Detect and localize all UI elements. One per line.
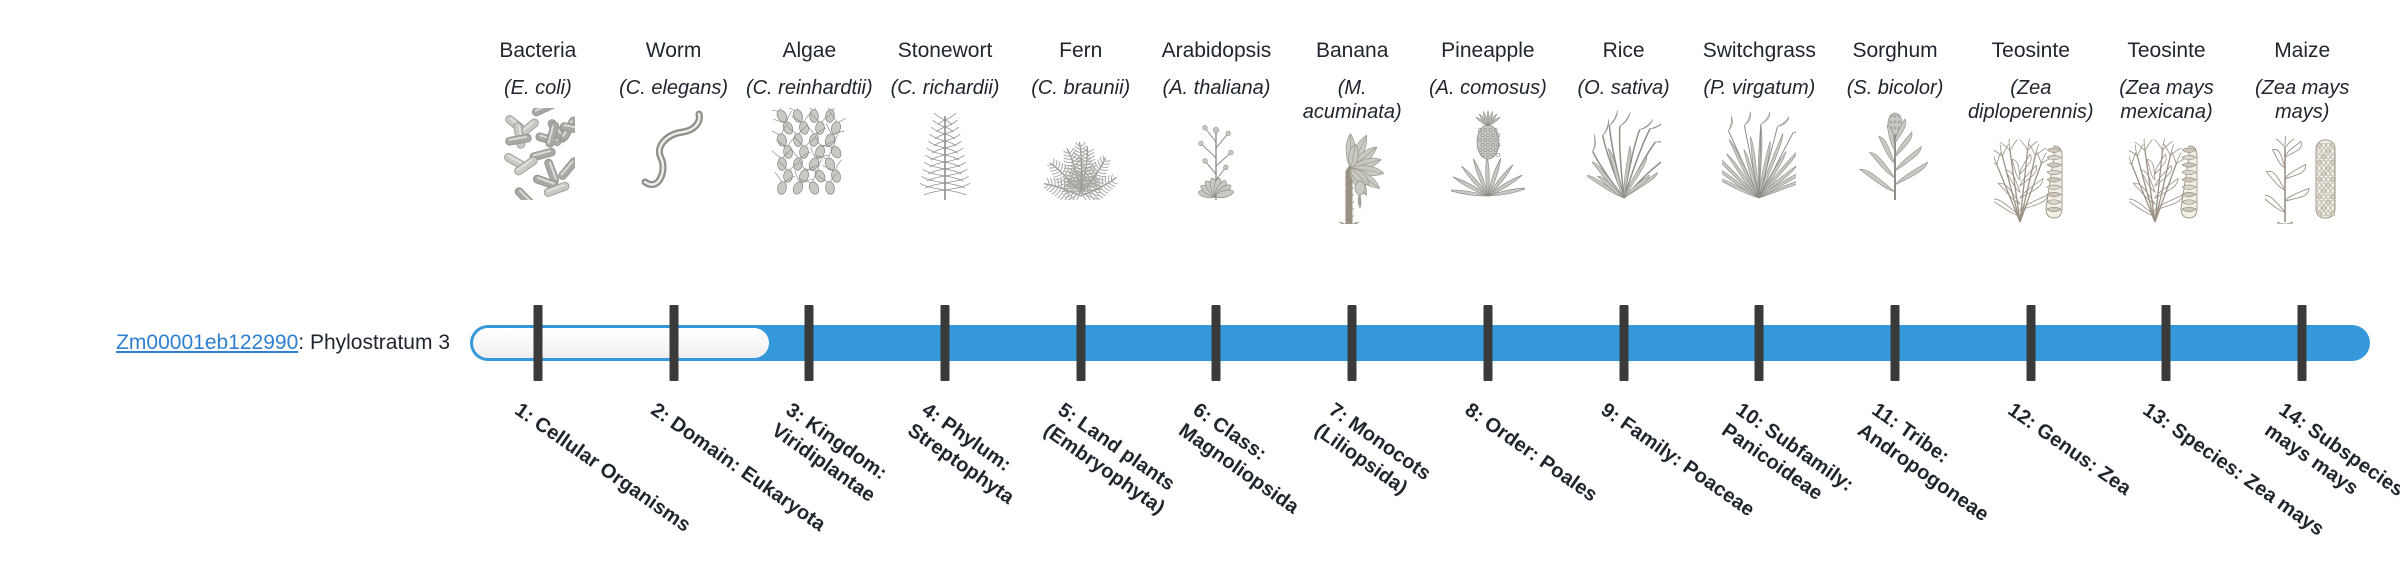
phylostratum-name: Order: Poales (1480, 412, 1601, 506)
species-column: Sorghum(S. bicolor) (1827, 0, 1963, 300)
gene-id-link[interactable]: Zm00001eb122990 (116, 331, 298, 354)
species-scientific-name: (O. sativa) (1577, 76, 1669, 100)
progress-bar-unfilled-region (473, 328, 769, 358)
phylostratum-tick[interactable] (805, 305, 814, 381)
species-common-name: Teosinte (2127, 38, 2205, 63)
species-columns: Bacteria(E. coli)Worm(C. elegans)Algae(C… (470, 0, 2370, 300)
banana-illustration (1287, 132, 1417, 224)
stonewort-illustration (880, 108, 1010, 200)
species-common-name: Rice (1603, 38, 1645, 63)
species-column: Fern(C. braunii) (1013, 0, 1149, 300)
progress-bar-track (470, 325, 2370, 361)
species-common-name: Arabidopsis (1162, 38, 1272, 63)
species-column: Switchgrass(P. virgatum) (1691, 0, 1827, 300)
phylostratum-tick[interactable] (1483, 305, 1492, 381)
species-column: Worm(C. elegans) (606, 0, 742, 300)
species-scientific-name: (S. bicolor) (1847, 76, 1944, 100)
phylostratum-name: Genus: Zea (2032, 419, 2135, 500)
phylostratum-tick[interactable] (1619, 305, 1628, 381)
gene-phylostratum-value: Phylostratum 3 (310, 331, 450, 354)
phylostratum-tick[interactable] (1076, 305, 1085, 381)
phylostratum-tick[interactable] (2026, 305, 2035, 381)
species-scientific-name: (Zea diploperennis) (1967, 76, 2095, 124)
species-common-name: Worm (646, 38, 702, 63)
phylostratum-tick[interactable] (2298, 305, 2307, 381)
species-scientific-name: (Zea mays mays) (2238, 76, 2366, 124)
species-scientific-name: (C. braunii) (1031, 76, 1130, 100)
species-column: Maize(Zea mays mays) (2234, 0, 2370, 300)
phylostratum-progress-bar[interactable] (470, 325, 2370, 361)
species-scientific-name: (M. acuminata) (1288, 76, 1416, 124)
fern-illustration (1016, 108, 1146, 200)
species-common-name: Pineapple (1441, 38, 1534, 63)
teosinte-illustration (2101, 132, 2231, 224)
phylostratum-tick[interactable] (1891, 305, 1900, 381)
species-common-name: Teosinte (1992, 38, 2070, 63)
species-common-name: Switchgrass (1703, 38, 1816, 63)
maize-illustration (2237, 132, 2367, 224)
pineapple-illustration (1423, 108, 1553, 200)
species-scientific-name: (E. coli) (504, 76, 572, 100)
species-scientific-name: (P. virgatum) (1703, 76, 1815, 100)
species-scientific-name: (A. thaliana) (1163, 76, 1271, 100)
switchgrass-illustration (1694, 108, 1824, 200)
species-common-name: Bacteria (499, 38, 576, 63)
species-common-name: Banana (1316, 38, 1388, 63)
species-column: Stonewort(C. richardii) (877, 0, 1013, 300)
species-common-name: Algae (782, 38, 836, 63)
bacteria-illustration (473, 108, 603, 200)
phylostratum-tick[interactable] (1212, 305, 1221, 381)
species-scientific-name: (C. elegans) (619, 76, 728, 100)
gene-phylostratum-label: Zm00001eb122990: Phylostratum 3 (0, 330, 450, 356)
species-scientific-name: (Zea mays mexicana) (2102, 76, 2230, 124)
species-column: Algae(C. reinhardtii) (741, 0, 877, 300)
gene-label-separator: : (298, 331, 310, 354)
species-column: Banana(M. acuminata) (1284, 0, 1420, 300)
species-column: Pineapple(A. comosus) (1420, 0, 1556, 300)
species-common-name: Sorghum (1852, 38, 1937, 63)
phylostratum-tick[interactable] (941, 305, 950, 381)
rice-illustration (1559, 108, 1689, 200)
species-common-name: Fern (1059, 38, 1102, 63)
species-scientific-name: (C. reinhardtii) (746, 76, 873, 100)
phylostratum-number: 9: (1596, 399, 1623, 427)
species-common-name: Stonewort (898, 38, 993, 63)
worm-illustration (609, 108, 739, 200)
arabidopsis-illustration (1151, 108, 1281, 200)
phylostratum-number: 2: (646, 399, 673, 427)
species-column: Teosinte(Zea diploperennis) (1963, 0, 2099, 300)
teosinte-illustration (1966, 132, 2096, 224)
phylostratum-tick[interactable] (1755, 305, 1764, 381)
species-column: Arabidopsis(A. thaliana) (1149, 0, 1285, 300)
phylostratum-tick[interactable] (669, 305, 678, 381)
species-column: Bacteria(E. coli) (470, 0, 606, 300)
species-scientific-name: (C. richardii) (891, 76, 1000, 100)
species-column: Rice(O. sativa) (1556, 0, 1692, 300)
phylostratum-number: 13: (2139, 399, 2176, 434)
phylostratum-figure: Zm00001eb122990: Phylostratum 3 Bacteria… (0, 0, 2400, 580)
algae-illustration (744, 108, 874, 200)
sorghum-illustration (1830, 108, 1960, 200)
phylostratum-tick[interactable] (2162, 305, 2171, 381)
species-column: Teosinte(Zea mays mexicana) (2099, 0, 2235, 300)
phylogeny-track: Bacteria(E. coli)Worm(C. elegans)Algae(C… (470, 0, 2370, 580)
species-common-name: Maize (2274, 38, 2330, 63)
phylostratum-tick[interactable] (533, 305, 542, 381)
phylostratum-tick[interactable] (1348, 305, 1357, 381)
phylostratum-number: 12: (2004, 399, 2041, 434)
species-scientific-name: (A. comosus) (1429, 76, 1547, 100)
